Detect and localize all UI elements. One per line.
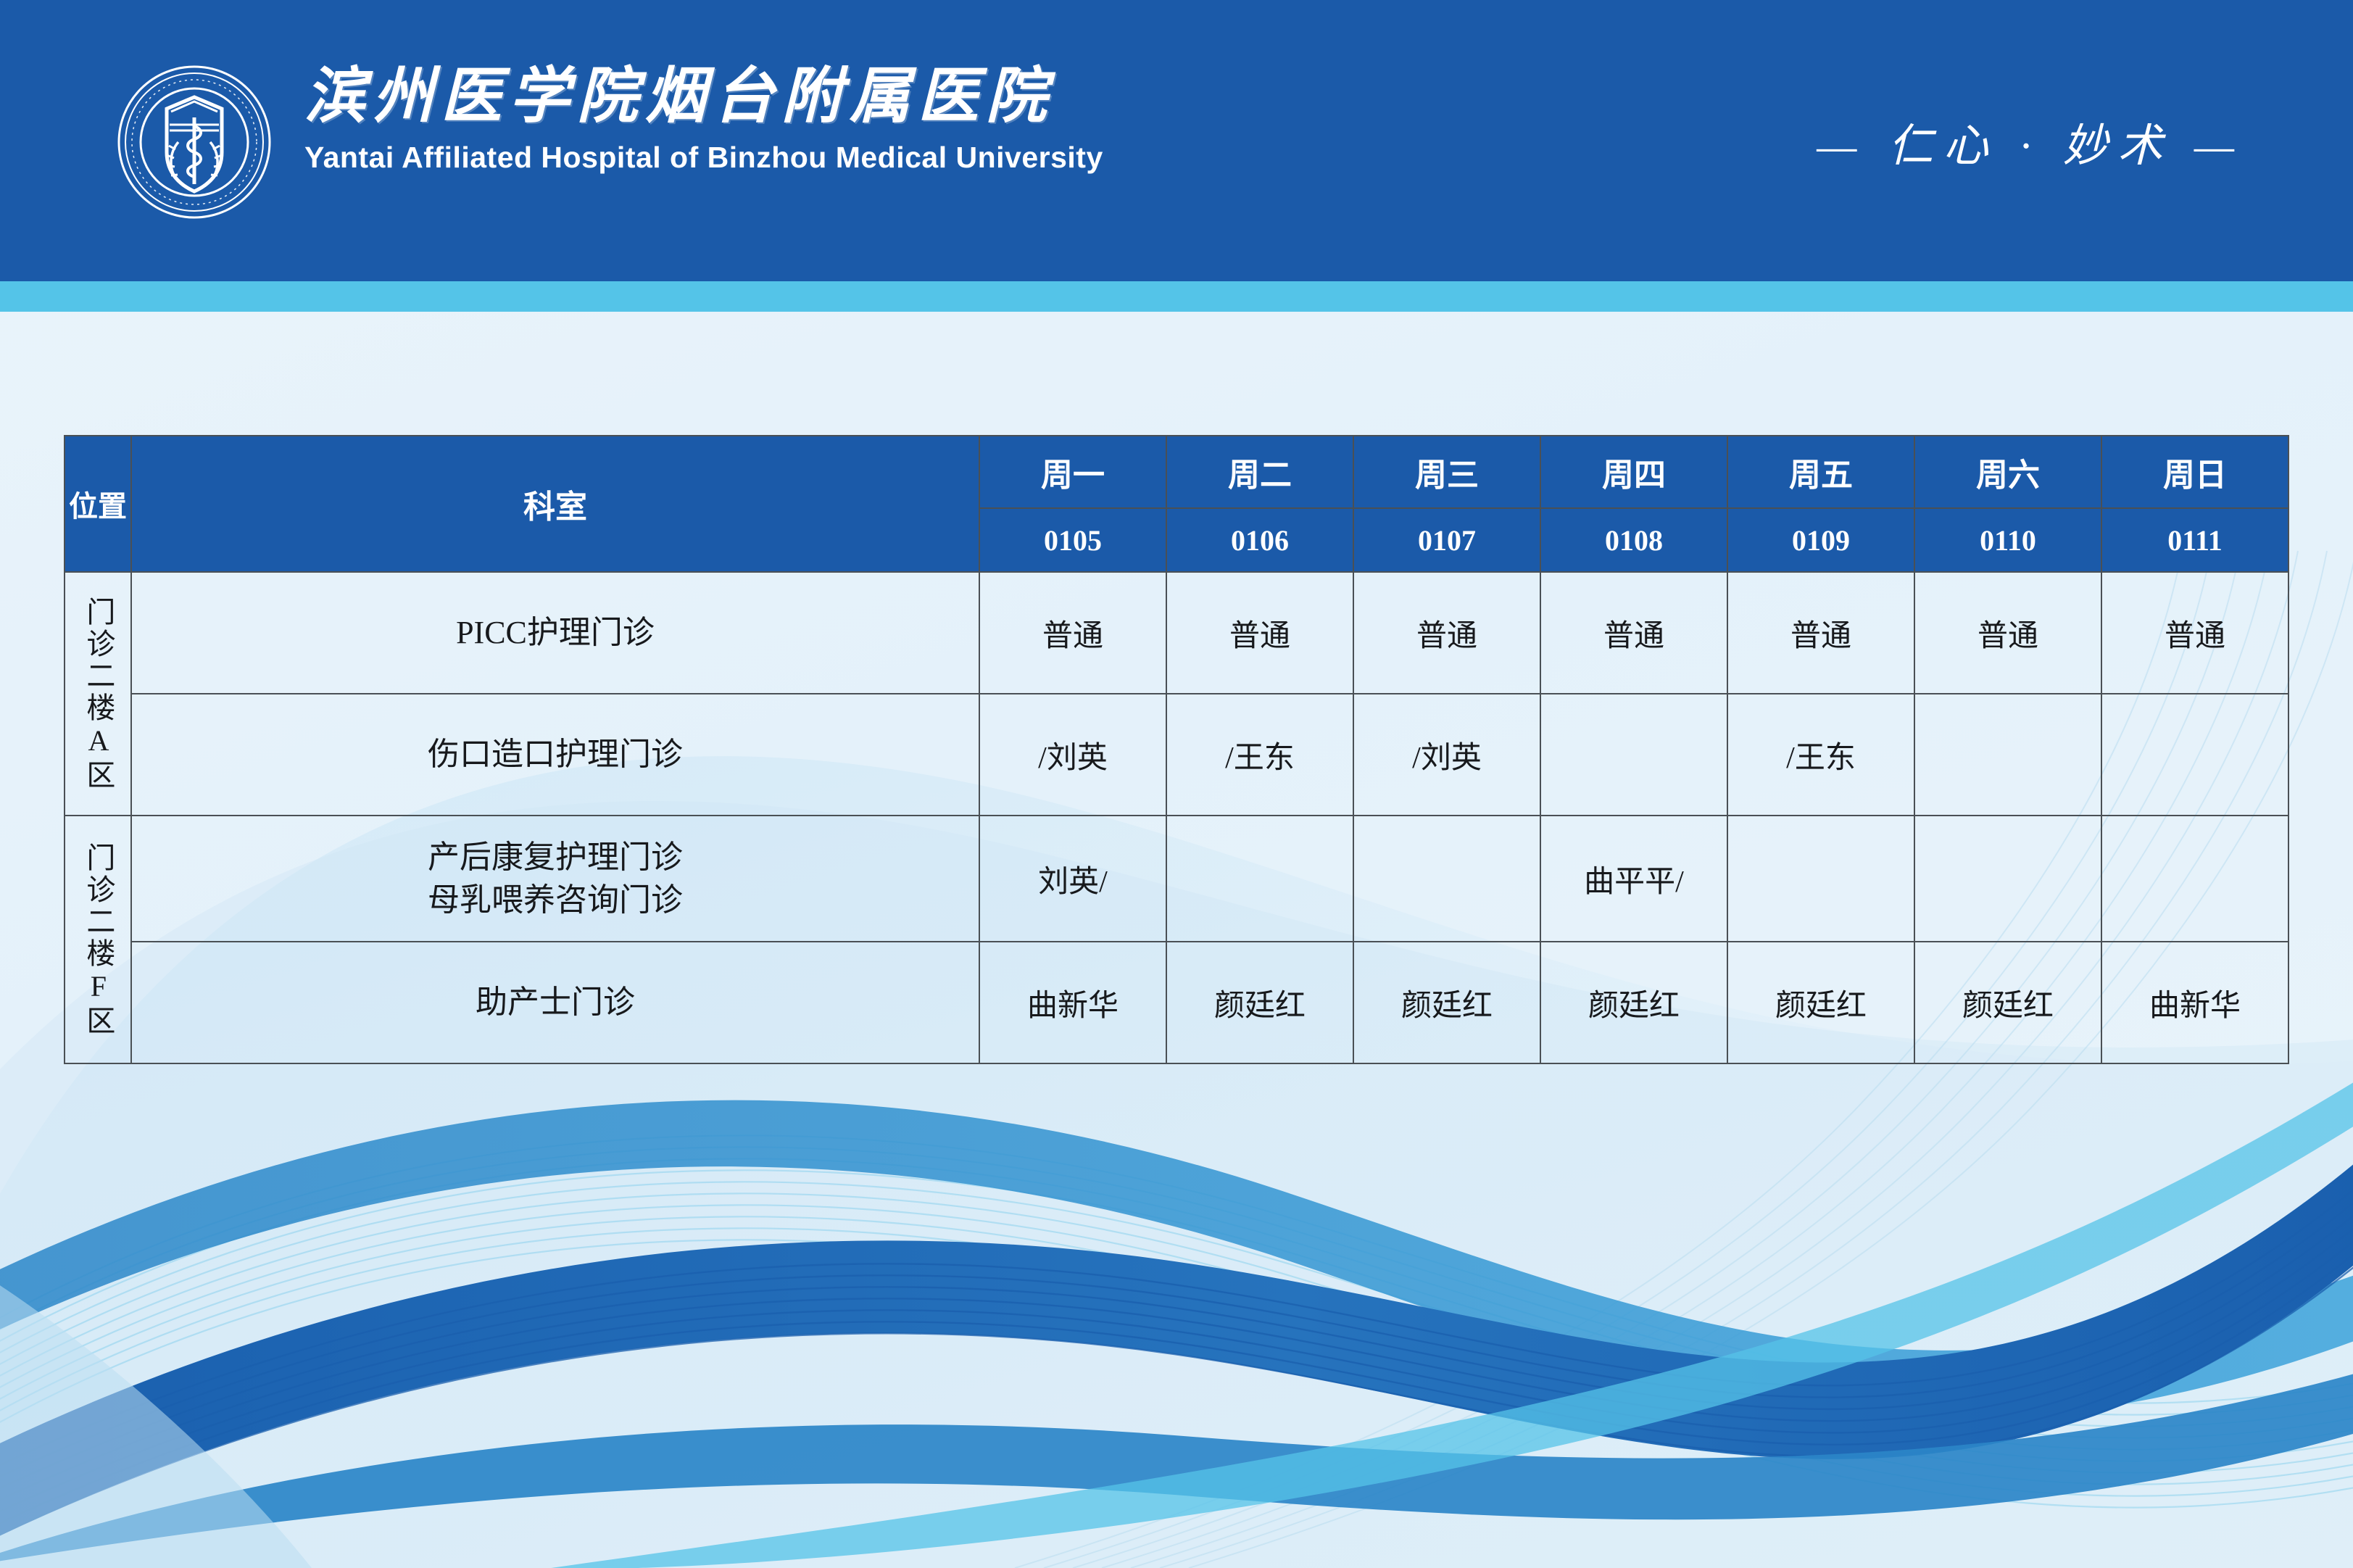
column-header-day-thu: 周四 — [1540, 436, 1727, 508]
schedule-cell: /王东 — [1166, 694, 1353, 816]
column-header-date-sun: 0111 — [2101, 508, 2288, 572]
schedule-cell: 普通 — [1166, 572, 1353, 694]
table-row: 门诊二楼F区 产后康复护理门诊 母乳喂养咨询门诊 刘英/ 曲平平/ — [65, 816, 2288, 942]
schedule-cell: /王东 — [1727, 694, 1914, 816]
table-row: 伤口造口护理门诊 /刘英 /王东 /刘英 /王东 — [65, 694, 2288, 816]
header-accent-stripe — [0, 281, 2353, 312]
department-cell: 助产士门诊 — [131, 942, 979, 1063]
schedule-cell: 曲新华 — [979, 942, 1166, 1063]
schedule-cell: /刘英 — [979, 694, 1166, 816]
column-header-date-mon: 0105 — [979, 508, 1166, 572]
schedule-cell — [1727, 816, 1914, 942]
schedule-cell: 普通 — [1914, 572, 2101, 694]
schedule-table: 位置 科室 周一 周二 周三 周四 周五 周六 周日 0105 0106 010… — [64, 435, 2289, 1064]
column-header-day-wed: 周三 — [1353, 436, 1540, 508]
hospital-name-en: Yantai Affiliated Hospital of Binzhou Me… — [304, 141, 1103, 175]
department-cell: PICC护理门诊 — [131, 572, 979, 694]
department-cell: 产后康复护理门诊 母乳喂养咨询门诊 — [131, 816, 979, 942]
schedule-cell — [1166, 816, 1353, 942]
hospital-emblem-icon — [116, 64, 273, 220]
column-header-date-thu: 0108 — [1540, 508, 1727, 572]
department-name-line: 助产士门诊 — [138, 981, 973, 1024]
header-title-block: 滨州医学院烟台附属医院 Yantai Affiliated Hospital o… — [304, 67, 1103, 175]
schedule-cell: 普通 — [2101, 572, 2288, 694]
column-header-department: 科室 — [131, 436, 979, 572]
schedule-table-wrapper: 位置 科室 周一 周二 周三 周四 周五 周六 周日 0105 0106 010… — [64, 435, 2289, 1064]
column-header-position: 位置 — [65, 436, 131, 572]
column-header-date-fri: 0109 — [1727, 508, 1914, 572]
schedule-cell — [2101, 816, 2288, 942]
column-header-date-sat: 0110 — [1914, 508, 2101, 572]
hospital-slogan: — 仁心 · 妙术 — — [1817, 109, 2244, 174]
schedule-table-head: 位置 科室 周一 周二 周三 周四 周五 周六 周日 0105 0106 010… — [65, 436, 2288, 572]
schedule-cell — [1540, 694, 1727, 816]
schedule-cell: 普通 — [979, 572, 1166, 694]
column-header-day-tue: 周二 — [1166, 436, 1353, 508]
schedule-cell: 普通 — [1727, 572, 1914, 694]
location-cell-f-zone: 门诊二楼F区 — [65, 816, 131, 1063]
column-header-day-mon: 周一 — [979, 436, 1166, 508]
column-header-date-tue: 0106 — [1166, 508, 1353, 572]
schedule-cell: 普通 — [1353, 572, 1540, 694]
location-label: 门诊二楼A区 — [80, 597, 116, 792]
table-row: 助产士门诊 曲新华 颜廷红 颜廷红 颜廷红 颜廷红 颜廷红 曲新华 — [65, 942, 2288, 1063]
schedule-cell: 颜廷红 — [1727, 942, 1914, 1063]
schedule-cell — [2101, 694, 2288, 816]
table-row: 门诊二楼A区 PICC护理门诊 普通 普通 普通 普通 普通 普通 普通 — [65, 572, 2288, 694]
schedule-table-body: 门诊二楼A区 PICC护理门诊 普通 普通 普通 普通 普通 普通 普通 伤口造… — [65, 572, 2288, 1063]
column-header-day-sun: 周日 — [2101, 436, 2288, 508]
header-row-days: 位置 科室 周一 周二 周三 周四 周五 周六 周日 — [65, 436, 2288, 508]
column-header-day-sat: 周六 — [1914, 436, 2101, 508]
department-name-line: 伤口造口护理门诊 — [138, 733, 973, 776]
department-name-line: 产后康复护理门诊 — [138, 836, 973, 879]
schedule-cell: 普通 — [1540, 572, 1727, 694]
column-header-date-wed: 0107 — [1353, 508, 1540, 572]
schedule-cell — [1914, 816, 2101, 942]
schedule-cell — [1353, 816, 1540, 942]
schedule-cell: 颜廷红 — [1540, 942, 1727, 1063]
schedule-cell: 颜廷红 — [1166, 942, 1353, 1063]
schedule-cell: 曲新华 — [2101, 942, 2288, 1063]
schedule-cell: /刘英 — [1353, 694, 1540, 816]
hospital-name-cn: 滨州医学院烟台附属医院 — [304, 67, 1103, 128]
schedule-cell: 颜廷红 — [1914, 942, 2101, 1063]
department-name-line: PICC护理门诊 — [138, 611, 973, 654]
schedule-cell: 颜廷红 — [1353, 942, 1540, 1063]
column-header-day-fri: 周五 — [1727, 436, 1914, 508]
department-name-line-2: 母乳喂养咨询门诊 — [138, 879, 973, 921]
schedule-cell: 刘英/ — [979, 816, 1166, 942]
schedule-cell: 曲平平/ — [1540, 816, 1727, 942]
location-label: 门诊二楼F区 — [80, 842, 116, 1037]
location-cell-a-zone: 门诊二楼A区 — [65, 572, 131, 816]
department-cell: 伤口造口护理门诊 — [131, 694, 979, 816]
schedule-cell — [1914, 694, 2101, 816]
